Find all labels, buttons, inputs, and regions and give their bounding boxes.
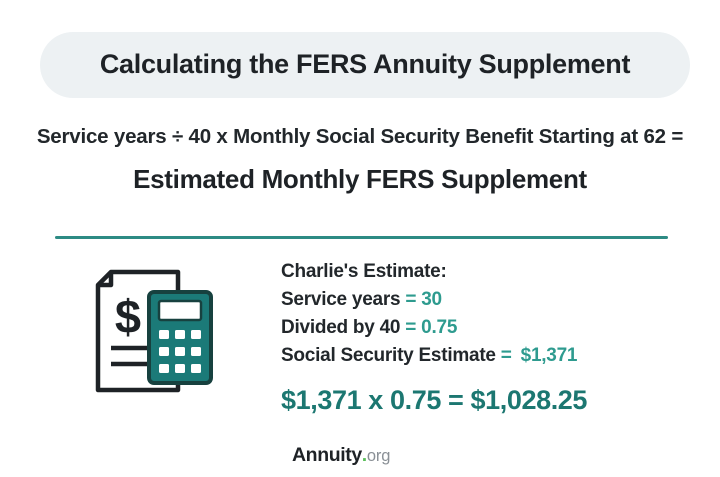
title-banner: Calculating the FERS Annuity Supplement [40, 32, 690, 98]
estimate-row-label: Service years [281, 289, 400, 310]
estimate-row-equals: = [501, 345, 512, 366]
formula-line-1: Service years ÷ 40 x Monthly Social Secu… [0, 124, 720, 150]
estimate-block: Charlie's Estimate: Service years = 30 D… [281, 258, 681, 370]
estimate-row-equals: = [405, 289, 416, 310]
formula-block: Service years ÷ 40 x Monthly Social Secu… [0, 124, 720, 196]
estimate-row-label: Social Security Estimate [281, 345, 496, 366]
estimate-row-label: Divided by 40 [281, 317, 400, 338]
estimate-row: Divided by 40 = 0.75 [281, 314, 681, 342]
logo-tld: org [367, 447, 391, 466]
estimate-row-equals: = [405, 317, 416, 338]
formula-line-2: Estimated Monthly FERS Supplement [0, 163, 720, 197]
calculator-buttons [159, 330, 201, 373]
final-equation: $1,371 x 0.75 = $1,028.25 [281, 385, 587, 416]
logo-wordmark: Annuity [292, 444, 362, 467]
calculator-screen [159, 301, 201, 320]
estimate-row: Social Security Estimate = $1,371 [281, 342, 681, 370]
estimate-row-value: 30 [421, 289, 442, 310]
estimate-row-value: $1,371 [517, 345, 578, 366]
page-title: Calculating the FERS Annuity Supplement [100, 50, 630, 80]
document-with-calculator-icon: $ [92, 268, 220, 398]
estimate-row: Service years = 30 [281, 286, 681, 314]
estimate-heading: Charlie's Estimate: [281, 258, 681, 286]
estimate-row-value: 0.75 [421, 317, 457, 338]
infographic-canvas: Calculating the FERS Annuity Supplement … [0, 0, 720, 477]
annuity-org-logo: Annuity . org [292, 444, 390, 467]
dollar-sign-glyph: $ [115, 290, 141, 343]
section-divider [55, 236, 668, 239]
